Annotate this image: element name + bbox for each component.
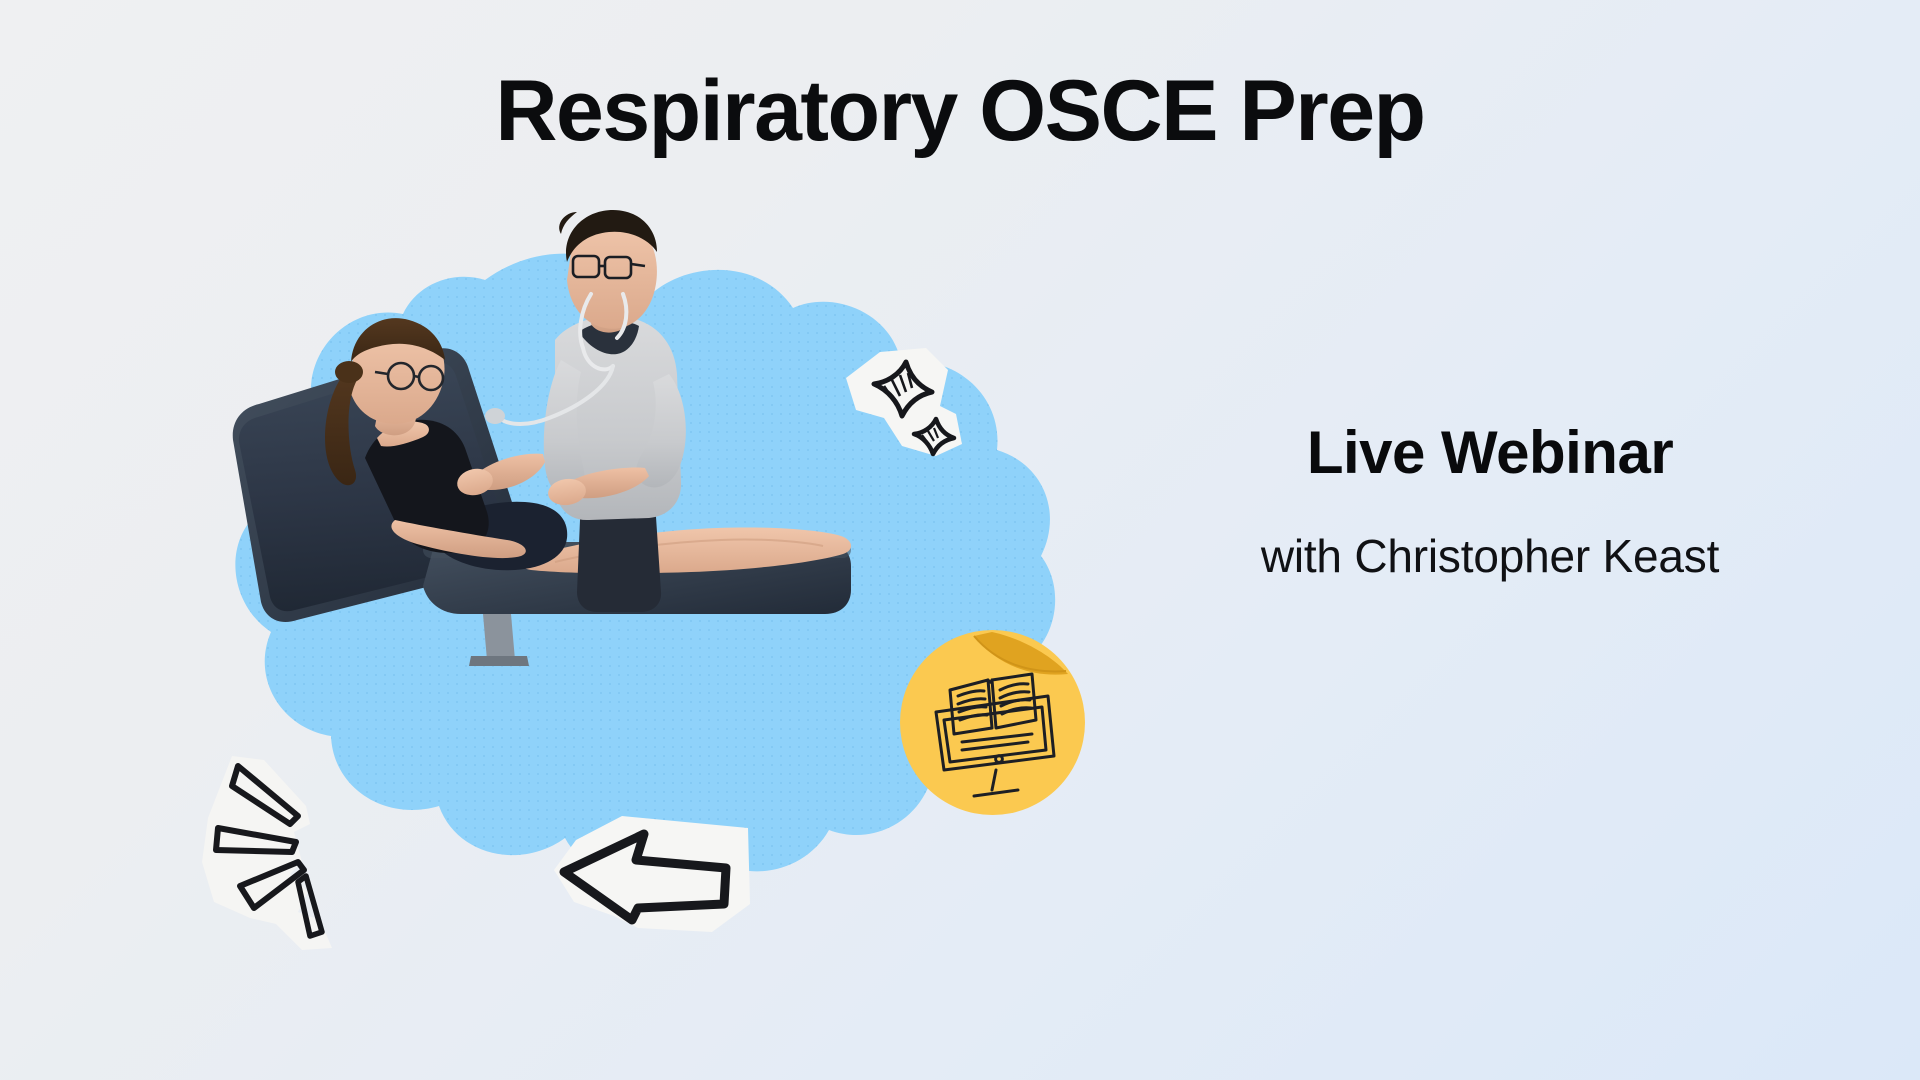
webinar-presenter: with Christopher Keast	[1100, 530, 1880, 583]
speed-lines-sticker	[198, 752, 378, 952]
clinical-examination-photo	[225, 190, 985, 750]
arrow-left-sticker	[552, 812, 752, 942]
webinar-banner: Respiratory OSCE Prep Live Webinar with …	[0, 0, 1920, 1080]
webinar-kicker: Live Webinar	[1100, 420, 1880, 486]
sparkle-sticker	[840, 348, 970, 458]
badge-sticker	[900, 630, 1085, 815]
page-title: Respiratory OSCE Prep	[0, 66, 1920, 156]
webinar-info: Live Webinar with Christopher Keast	[1100, 420, 1880, 583]
